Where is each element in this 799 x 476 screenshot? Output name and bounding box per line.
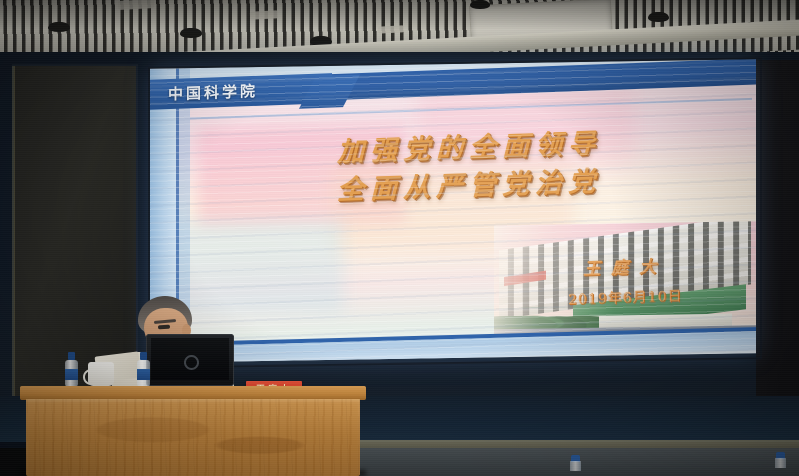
bottle-label <box>65 369 78 380</box>
bottle-body <box>570 461 581 471</box>
desk-front-panel <box>26 399 360 476</box>
slide-banner-label: 中国科学院 <box>168 80 258 104</box>
slide-byline: 王庭大 2019年6月10日 <box>568 251 682 309</box>
slide-date: 2019年6月10日 <box>568 285 682 309</box>
lecture-hall-photo: 中国科学院 加强党的全面领导 全面从严管党治党 王庭大 2019年6月10日 <box>0 0 799 476</box>
laptop-logo <box>184 355 199 370</box>
water-bottle-icon <box>775 452 786 468</box>
paper-cup-icon <box>88 362 114 386</box>
slide-speaker-name: 王庭大 <box>568 251 682 280</box>
ceiling-light-panel <box>378 25 404 33</box>
wall-panel-right <box>756 60 799 400</box>
water-bottle-icon <box>570 455 581 471</box>
ceiling-speaker-icon <box>48 22 70 32</box>
bottle-label <box>137 369 150 380</box>
speaker-eye <box>158 325 170 330</box>
ceiling-speaker-icon <box>180 28 202 38</box>
wall-panel-edge <box>12 66 15 396</box>
laptop-icon[interactable] <box>146 334 234 386</box>
bottle-cap <box>140 352 147 360</box>
ceiling-speaker-icon <box>470 0 490 9</box>
desk-top <box>20 386 366 400</box>
water-bottle-icon <box>137 352 150 387</box>
ceiling-light-panel <box>250 10 278 19</box>
ceiling-speaker-icon <box>648 12 669 22</box>
podium-desk <box>20 386 366 476</box>
bottle-cap <box>68 352 75 360</box>
bottle-body <box>775 458 786 468</box>
water-bottle-icon <box>65 352 78 387</box>
slide-headline: 加强党的全面领导 全面从严管党治党 <box>192 121 746 216</box>
